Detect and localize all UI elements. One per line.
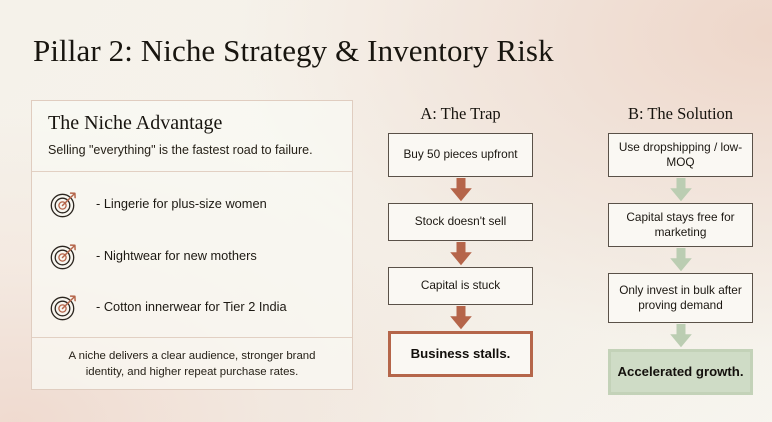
arrow-down-icon bbox=[388, 241, 533, 267]
slide-canvas: Pillar 2: Niche Strategy & Inventory Ris… bbox=[0, 0, 772, 422]
arrow-down-icon bbox=[608, 323, 753, 349]
card-subtitle: Selling "everything" is the fastest road… bbox=[48, 142, 336, 159]
target-icon bbox=[48, 291, 80, 323]
card-title: The Niche Advantage bbox=[48, 112, 336, 135]
flow-outcome-box: Accelerated growth. bbox=[608, 349, 753, 395]
list-item-label: - Nightwear for new mothers bbox=[96, 248, 257, 264]
niche-advantage-card: The Niche Advantage Selling "everything"… bbox=[31, 100, 353, 390]
column-heading-solution: B: The Solution bbox=[608, 104, 753, 124]
flow-step-box: Capital is stuck bbox=[388, 267, 533, 305]
target-icon bbox=[48, 188, 80, 220]
column-heading-trap: A: The Trap bbox=[388, 104, 533, 124]
flow-step-box: Use dropshipping / low-MOQ bbox=[608, 133, 753, 177]
list-item: - Cotton innerwear for Tier 2 India bbox=[48, 291, 336, 323]
flow-step-box: Stock doesn't sell bbox=[388, 203, 533, 241]
card-footer-note: A niche delivers a clear audience, stron… bbox=[32, 338, 352, 389]
arrow-down-icon bbox=[608, 177, 753, 203]
list-item: - Lingerie for plus-size women bbox=[48, 188, 336, 220]
list-item-label: - Lingerie for plus-size women bbox=[96, 196, 267, 212]
list-item: - Nightwear for new mothers bbox=[48, 240, 336, 272]
flow-step-box: Only invest in bulk after proving demand bbox=[608, 273, 753, 323]
arrow-down-icon bbox=[608, 247, 753, 273]
target-icon bbox=[48, 240, 80, 272]
arrow-down-icon bbox=[388, 305, 533, 331]
card-header: The Niche Advantage Selling "everything"… bbox=[32, 101, 352, 172]
arrow-down-icon bbox=[388, 177, 533, 203]
page-title: Pillar 2: Niche Strategy & Inventory Ris… bbox=[33, 33, 554, 69]
flowchart-trap: A: The Trap Buy 50 pieces upfront Stock … bbox=[388, 104, 533, 377]
niche-examples-list: - Lingerie for plus-size women - Nightwe… bbox=[32, 172, 352, 337]
list-item-label: - Cotton innerwear for Tier 2 India bbox=[96, 299, 287, 315]
flow-outcome-box: Business stalls. bbox=[388, 331, 533, 377]
flow-step-box: Capital stays free for marketing bbox=[608, 203, 753, 247]
flow-step-box: Buy 50 pieces upfront bbox=[388, 133, 533, 177]
flowchart-solution: B: The Solution Use dropshipping / low-M… bbox=[608, 104, 753, 395]
